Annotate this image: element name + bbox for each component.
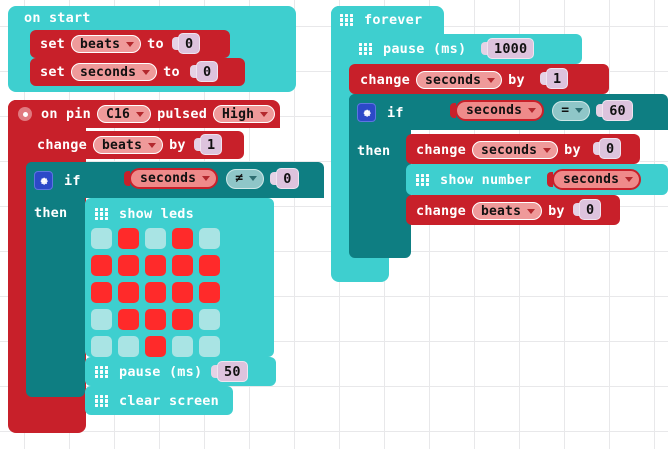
variable-dropdown-seconds-label: seconds [481, 143, 537, 158]
led-cell-2-2[interactable] [145, 282, 166, 303]
if-pin-header-row: if [34, 171, 81, 190]
forever-label: forever [364, 12, 422, 28]
led-cell-2-1[interactable] [118, 282, 139, 303]
variable-dropdown-beats-label: beats [80, 37, 120, 52]
set-seconds-row: set seconds to [40, 63, 180, 81]
if-keyword: if [64, 173, 81, 189]
variable-dropdown-seconds-label: seconds [80, 65, 136, 80]
on-pin-header-row: on pin C16 pulsed High [18, 105, 275, 123]
pin-dropdown[interactable]: C16 [97, 105, 151, 123]
led-cell-1-4[interactable] [199, 255, 220, 276]
change-connector: by [564, 142, 581, 158]
led-matrix[interactable] [91, 228, 220, 357]
change-keyword: change [360, 72, 410, 88]
led-cell-4-0[interactable] [91, 336, 112, 357]
variable-reporter-seconds[interactable]: seconds [129, 168, 218, 189]
chevron-down-icon [487, 78, 495, 83]
change-beats-row: change beats by [37, 136, 186, 154]
number-input-beats[interactable]: 0 [178, 33, 200, 54]
edge-dropdown-label: High [222, 107, 254, 122]
variable-dropdown-beats[interactable]: beats [71, 35, 141, 53]
led-cell-3-2[interactable] [145, 309, 166, 330]
change-seconds-1-row: change seconds by [360, 71, 525, 89]
if-keyword: if [387, 105, 404, 121]
pause-50-value-slot[interactable]: 50 [211, 361, 248, 382]
show-leds-header: show leds [95, 206, 194, 222]
led-cell-0-4[interactable] [199, 228, 220, 249]
change-keyword: change [416, 203, 466, 219]
variable-reporter-seconds-shown-label: seconds [563, 172, 619, 187]
variable-reporter-seconds-shown[interactable]: seconds [552, 169, 641, 190]
led-cell-1-1[interactable] [118, 255, 139, 276]
change-keyword: change [416, 142, 466, 158]
change-connector: by [508, 72, 525, 88]
then-keyword: then [34, 205, 67, 221]
change-keyword: change [37, 137, 87, 153]
variable-dropdown-beats[interactable]: beats [93, 136, 163, 154]
led-cell-3-0[interactable] [91, 309, 112, 330]
chevron-down-icon [126, 42, 134, 47]
show-number-row: show number [416, 172, 532, 188]
chevron-down-icon [528, 108, 536, 113]
grid-icon [95, 366, 108, 379]
chevron-down-icon [527, 209, 535, 214]
change-seconds-0-row: change seconds by [416, 141, 581, 159]
operator-dropdown-eq-label: = [561, 103, 569, 118]
forever-header-row: forever [340, 12, 422, 28]
chevron-down-icon [543, 148, 551, 153]
on-start-label: on start [24, 10, 91, 26]
led-cell-0-0[interactable] [91, 228, 112, 249]
led-cell-0-2[interactable] [145, 228, 166, 249]
variable-reporter-seconds[interactable]: seconds [455, 100, 544, 121]
on-pin-label-b: pulsed [157, 106, 207, 122]
pin-radio-icon [18, 107, 32, 121]
number-input-if-compare-60[interactable]: 60 [602, 100, 633, 121]
led-cell-0-3[interactable] [172, 228, 193, 249]
led-cell-4-3[interactable] [172, 336, 193, 357]
set-beats-row: set beats to [40, 35, 164, 53]
change-seconds-1-value-slot[interactable]: 1 [540, 68, 568, 89]
grid-icon [359, 43, 372, 56]
then-keyword: then [357, 143, 390, 159]
set-seconds-value-slot[interactable]: 0 [190, 61, 218, 82]
variable-dropdown-seconds-label: seconds [425, 73, 481, 88]
variable-dropdown-seconds[interactable]: seconds [416, 71, 502, 89]
variable-dropdown-beats-label: beats [102, 138, 142, 153]
on-pin-label-a: on pin [41, 106, 91, 122]
chevron-down-icon [142, 70, 150, 75]
set-connector: to [163, 64, 180, 80]
change-beats-0-value-slot[interactable]: 0 [573, 199, 601, 220]
chevron-down-icon [249, 176, 257, 181]
change-beats-0-row: change beats by [416, 202, 565, 220]
led-cell-1-2[interactable] [145, 255, 166, 276]
number-input-change-beats[interactable]: 1 [200, 134, 222, 155]
pause-label: pause (ms) [383, 41, 466, 57]
set-beats-value-slot[interactable]: 0 [172, 33, 200, 54]
number-input-pause-50[interactable]: 50 [217, 361, 248, 382]
if-pin-then-label: then [34, 205, 67, 221]
operator-dropdown-ne[interactable]: ≠ [226, 169, 264, 189]
number-input-change-seconds-0[interactable]: 0 [599, 138, 621, 159]
blocks-canvas[interactable]: on start set beats to 0 set seconds to 0… [0, 0, 668, 449]
grid-icon [416, 174, 429, 187]
variable-dropdown-seconds[interactable]: seconds [472, 141, 558, 159]
clear-screen-label: clear screen [119, 393, 219, 409]
change-connector: by [548, 203, 565, 219]
operator-dropdown-ne-label: ≠ [235, 171, 243, 186]
led-cell-1-3[interactable] [172, 255, 193, 276]
gear-icon[interactable] [357, 103, 376, 122]
clear-screen-row: clear screen [95, 393, 219, 409]
set-connector: to [147, 36, 164, 52]
number-input-seconds[interactable]: 0 [196, 61, 218, 82]
pin-dropdown-label: C16 [106, 107, 130, 122]
operator-dropdown-eq[interactable]: = [552, 101, 590, 121]
led-cell-4-1[interactable] [118, 336, 139, 357]
on-start-header: on start [24, 10, 91, 26]
set-keyword: set [40, 36, 65, 52]
number-input-change-seconds-1[interactable]: 1 [546, 68, 568, 89]
led-cell-2-3[interactable] [172, 282, 193, 303]
chevron-down-icon [625, 177, 633, 182]
number-input-change-beats-0[interactable]: 0 [579, 199, 601, 220]
number-input-pause-1000[interactable]: 1000 [487, 38, 534, 59]
pause-1000-value-slot[interactable]: 1000 [481, 38, 534, 59]
change-seconds-0-value-slot[interactable]: 0 [593, 138, 621, 159]
variable-reporter-seconds-label: seconds [466, 103, 522, 118]
variable-dropdown-seconds[interactable]: seconds [71, 63, 157, 81]
edge-dropdown[interactable]: High [213, 105, 275, 123]
led-cell-4-2[interactable] [145, 336, 166, 357]
grid-icon [95, 395, 108, 408]
pause-1000-row: pause (ms) [359, 41, 466, 57]
variable-dropdown-beats-label: beats [481, 204, 521, 219]
show-number-value-slot[interactable]: seconds [547, 169, 641, 190]
grid-icon [340, 14, 353, 27]
led-cell-2-0[interactable] [91, 282, 112, 303]
led-cell-2-4[interactable] [199, 282, 220, 303]
if-forever-condition[interactable]: seconds = 60 [450, 100, 633, 121]
change-connector: by [169, 137, 186, 153]
gear-icon[interactable] [34, 171, 53, 190]
if-forever-header-row: if [357, 103, 404, 122]
led-cell-3-1[interactable] [118, 309, 139, 330]
chevron-down-icon [202, 176, 210, 181]
number-input-if-compare[interactable]: 0 [276, 168, 298, 189]
led-cell-1-0[interactable] [91, 255, 112, 276]
show-number-label: show number [440, 172, 532, 188]
chevron-down-icon [136, 112, 144, 117]
led-cell-3-3[interactable] [172, 309, 193, 330]
led-cell-0-1[interactable] [118, 228, 139, 249]
chevron-down-icon [260, 112, 268, 117]
pause-label: pause (ms) [119, 364, 202, 380]
set-keyword: set [40, 64, 65, 80]
led-cell-4-4[interactable] [199, 336, 220, 357]
change-beats-value-slot[interactable]: 1 [194, 134, 222, 155]
variable-reporter-seconds-label: seconds [140, 171, 196, 186]
show-leds-label: show leds [119, 206, 194, 222]
grid-icon [95, 208, 108, 221]
if-forever-then-label: then [357, 143, 390, 159]
pause-50-row: pause (ms) [95, 364, 202, 380]
if-pin-condition[interactable]: seconds ≠ 0 [124, 168, 299, 189]
chevron-down-icon [575, 108, 583, 113]
led-cell-3-4[interactable] [199, 309, 220, 330]
variable-dropdown-beats[interactable]: beats [472, 202, 542, 220]
chevron-down-icon [148, 143, 156, 148]
